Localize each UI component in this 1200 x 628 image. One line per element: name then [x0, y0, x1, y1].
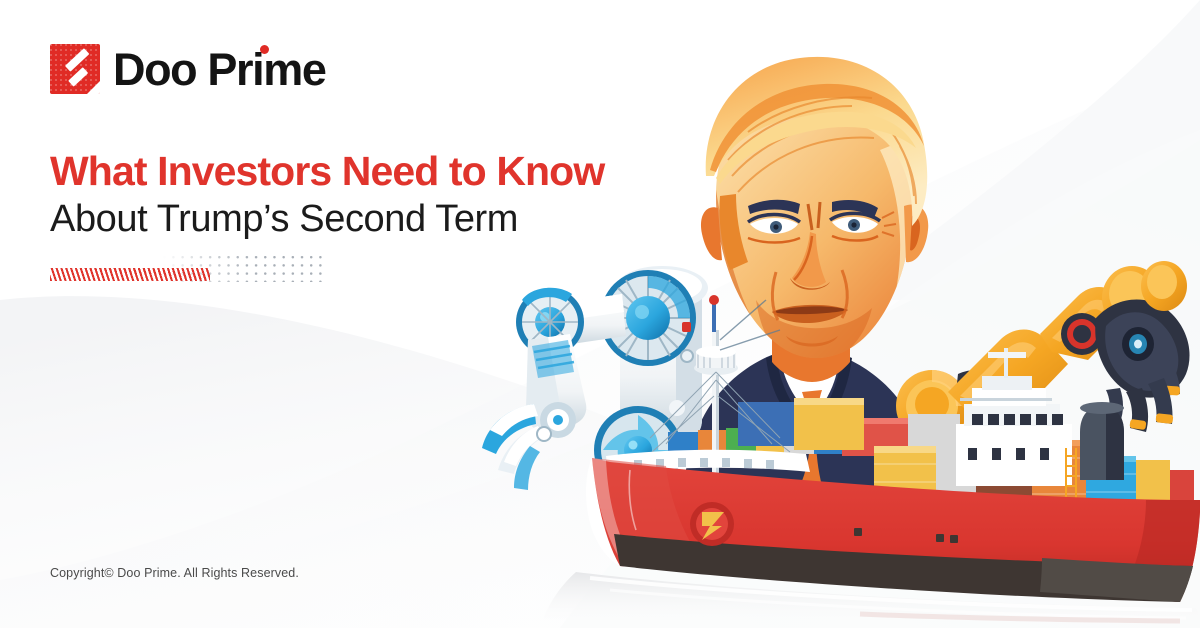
hull-emblem — [690, 502, 734, 546]
decorative-rule — [50, 260, 320, 284]
brand-wordmark-text: Doo Prime — [113, 44, 325, 95]
banner-root: Doo Prime What Investors Need to Know Ab… — [0, 0, 1200, 628]
copyright-text: Copyright© Doo Prime. All Rights Reserve… — [50, 566, 299, 580]
wordmark-accent-dot-icon — [260, 45, 269, 54]
decorative-dot-grid — [163, 256, 323, 282]
brand-logo[interactable]: Doo Prime — [50, 44, 325, 94]
hero-illustration — [480, 0, 1200, 628]
doo-prime-logo-icon — [50, 44, 100, 94]
brand-wordmark: Doo Prime — [113, 47, 325, 92]
logo-dot-texture — [50, 44, 100, 94]
